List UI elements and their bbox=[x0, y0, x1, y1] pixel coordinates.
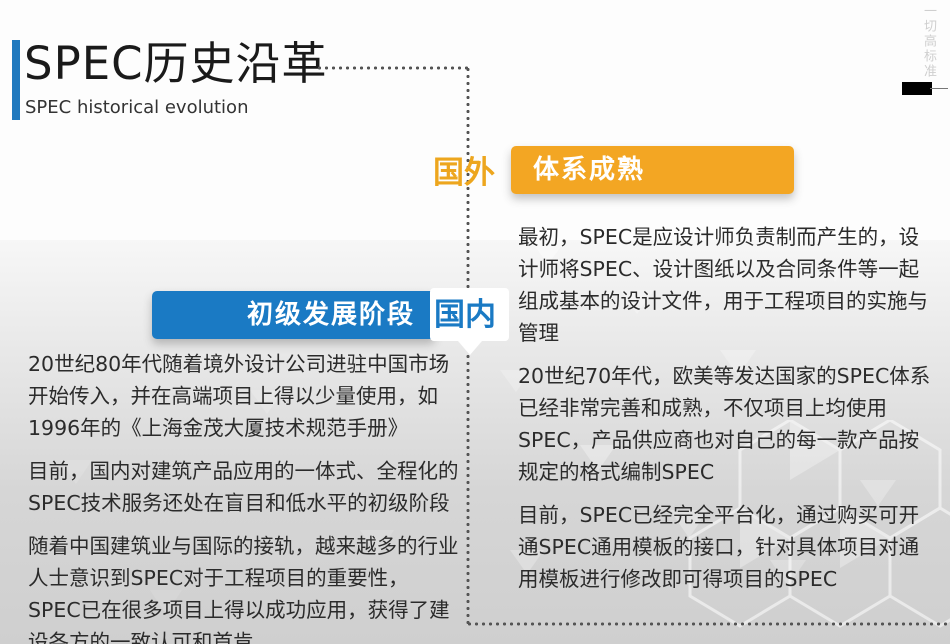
dotted-line-top-horizontal bbox=[316, 66, 470, 70]
slide-canvas: SPEC历史沿革 SPEC historical evolution 一切高标准… bbox=[0, 0, 950, 644]
domestic-tag-pointer-icon bbox=[458, 341, 482, 355]
domestic-paragraph-2: 目前，国内对建筑产品应用的一体式、全程化的SPEC技术服务还处在盲目和低水平的初… bbox=[28, 455, 460, 519]
title-accent-bar bbox=[12, 40, 20, 120]
corner-slogan: 一切高标准 bbox=[921, 4, 936, 79]
domestic-headline-label: 初级发展阶段 bbox=[247, 298, 415, 332]
dotted-line-bottom-horizontal bbox=[466, 622, 950, 626]
overseas-headline-bar: 体系成熟 bbox=[511, 146, 794, 194]
page-title: SPEC历史沿革 bbox=[24, 36, 328, 92]
domestic-paragraph-1: 20世纪80年代随着境外设计公司进驻中国市场开始传入，并在高端项目上得以少量使用… bbox=[28, 348, 460, 444]
overseas-paragraph-1: 最初，SPEC是应设计师负责制而产生的，设计师将SPEC、设计图纸以及合同条件等… bbox=[518, 221, 938, 349]
overseas-paragraph-2: 20世纪70年代，欧美等发达国家的SPEC体系已经非常完善和成熟，不仅项目上均使… bbox=[518, 360, 938, 488]
overseas-text-column: 最初，SPEC是应设计师负责制而产生的，设计师将SPEC、设计图纸以及合同条件等… bbox=[518, 221, 938, 595]
domestic-headline-bar: 初级发展阶段 bbox=[152, 291, 435, 339]
domestic-tag: 国内 bbox=[434, 294, 496, 336]
overseas-headline-label: 体系成熟 bbox=[533, 153, 645, 187]
overseas-paragraph-3: 目前，SPEC已经完全平台化，通过购买可开通SPEC通用模板的接口，针对具体项目… bbox=[518, 499, 938, 595]
domestic-text-column: 20世纪80年代随着境外设计公司进驻中国市场开始传入，并在高端项目上得以少量使用… bbox=[28, 348, 460, 644]
corner-mark-line bbox=[930, 88, 948, 89]
domestic-paragraph-3: 随着中国建筑业与国际的接轨，越来越多的行业人士意识到SPEC对于工程项目的重要性… bbox=[28, 530, 460, 644]
page-subtitle: SPEC historical evolution bbox=[25, 96, 248, 120]
corner-black-mark bbox=[902, 82, 932, 95]
overseas-tag: 国外 bbox=[433, 153, 495, 193]
